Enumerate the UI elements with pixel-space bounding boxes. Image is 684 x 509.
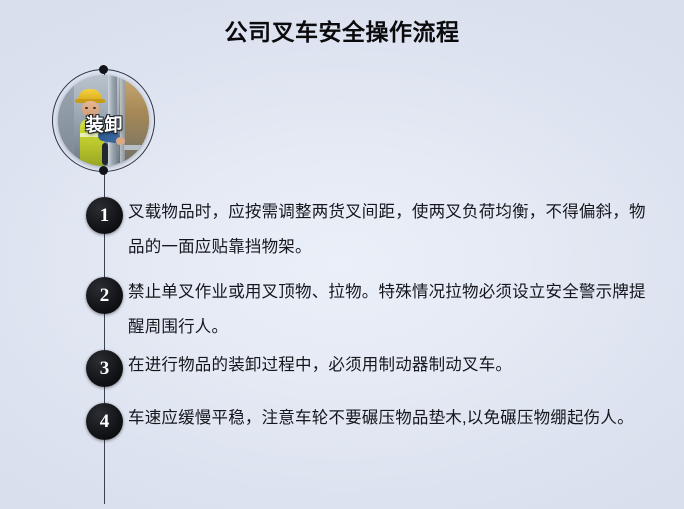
step-text-1: 叉载物品时，应按需调整两货叉间距，使两叉负荷均衡，不得偏斜，物品的一面应贴靠挡物… — [128, 195, 662, 265]
page-title: 公司叉车安全操作流程 — [0, 17, 684, 47]
ring-dot-top-icon — [99, 65, 108, 74]
photo-node[interactable]: 装卸 — [52, 69, 157, 174]
worker-forklift-photo — [58, 75, 149, 166]
step-number-2: 2 — [86, 277, 123, 314]
photo-worker-hand — [116, 137, 125, 145]
photo-forklift-fork — [124, 145, 149, 150]
step-number-3: 3 — [86, 350, 123, 387]
step-text-4: 车速应缓慢平稳，注意车轮不要碾压物品垫木,以免碾压物绷起伤人。 — [128, 401, 662, 436]
photo-forklift-mast-secondary — [120, 75, 125, 166]
photo-worker-eye-right — [93, 107, 96, 109]
step-number-4: 4 — [86, 403, 123, 440]
step-number-1: 1 — [86, 197, 123, 234]
photo-worker-eye-left — [85, 107, 88, 109]
step-text-2: 禁止单叉作业或用叉顶物、拉物。特殊情况拉物必须设立安全警示牌提醒周围行人。 — [128, 275, 662, 345]
slide-canvas: 公司叉车安全操作流程 装卸 — [0, 0, 684, 509]
step-text-3: 在进行物品的装卸过程中，必须用制动器制动叉车。 — [128, 348, 662, 383]
photo-worker-vest — [80, 119, 104, 166]
photo-forklift-lever — [102, 143, 108, 165]
ring-dot-bottom-icon — [99, 166, 108, 175]
